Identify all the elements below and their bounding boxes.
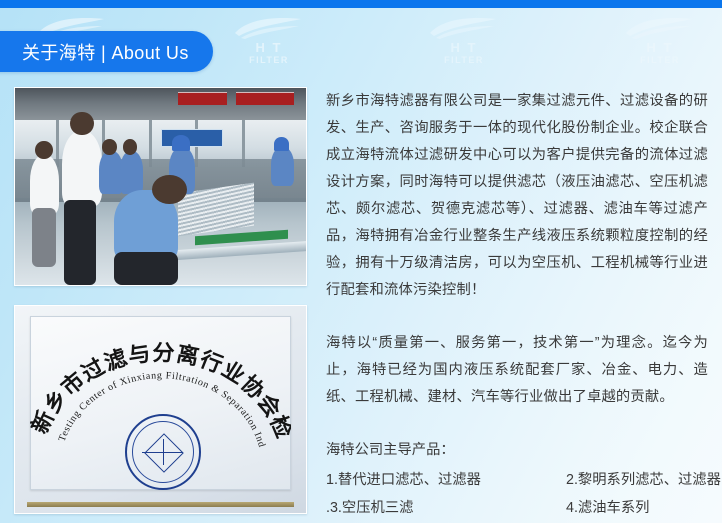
section-title-pill: 关于海特 | About Us	[0, 31, 213, 72]
products-heading: 海特公司主导产品：	[326, 437, 708, 464]
watermark-word: FILTER	[420, 56, 508, 65]
about-paragraph-1: 新乡市海特滤器有限公司是一家集过滤元件、过滤设备的研发、生产、咨询服务于一体的现…	[326, 88, 708, 304]
page-title: 关于海特 | About Us	[22, 39, 189, 65]
swoosh-logo-icon	[225, 14, 313, 40]
brand-watermark: H T FILTER	[225, 14, 313, 70]
product-item: 2.黎明系列滤芯、过滤器	[566, 466, 721, 494]
product-item: 4.滤油车系列	[566, 494, 721, 522]
top-accent-bar	[0, 0, 722, 8]
association-seal-icon	[125, 414, 201, 490]
swoosh-logo-icon	[420, 14, 508, 40]
about-us-page: H T FILTER H T FILTER H T FILTER H	[0, 0, 722, 523]
watermark-initials: H T	[225, 41, 313, 54]
factory-photo-artwork	[15, 88, 306, 285]
watermark-word: FILTER	[616, 56, 704, 65]
about-body: 海特滤器生产车间，工人正在装配滤芯，管理人员现场巡视 新乡市过滤与分离行业协会检…	[0, 86, 722, 523]
plaque-photo-artwork: 新乡市过滤与分离行业协会检测中心 Testing Center of Xinxi…	[15, 306, 306, 513]
brand-watermark: H T FILTER	[420, 14, 508, 70]
swoosh-logo-icon	[616, 14, 704, 40]
watermark-initials: H T	[420, 41, 508, 54]
product-item: .3.空压机三滤	[326, 494, 566, 522]
image-column: 海特滤器生产车间，工人正在装配滤芯，管理人员现场巡视 新乡市过滤与分离行业协会检…	[14, 86, 307, 514]
plaque-photo: 新乡市过滤与分离行业协会检测中心 Testing Center of Xinxi…	[14, 305, 307, 514]
products-list: 1.替代进口滤芯、过滤器 2.黎明系列滤芯、过滤器 .3.空压机三滤 4.滤油车…	[326, 466, 708, 523]
about-paragraph-2: 海特以“质量第一、服务第一，技术第一”为理念。迄今为止，海特已经为国内液压系统配…	[326, 330, 708, 411]
text-column: 新乡市海特滤器有限公司是一家集过滤元件、过滤设备的研发、生产、咨询服务于一体的现…	[326, 86, 708, 523]
factory-photo: 海特滤器生产车间，工人正在装配滤芯，管理人员现场巡视	[14, 87, 307, 286]
product-item: 1.替代进口滤芯、过滤器	[326, 466, 566, 494]
watermark-word: FILTER	[225, 56, 313, 65]
brand-watermark: H T FILTER	[616, 14, 704, 70]
watermark-initials: H T	[616, 41, 704, 54]
